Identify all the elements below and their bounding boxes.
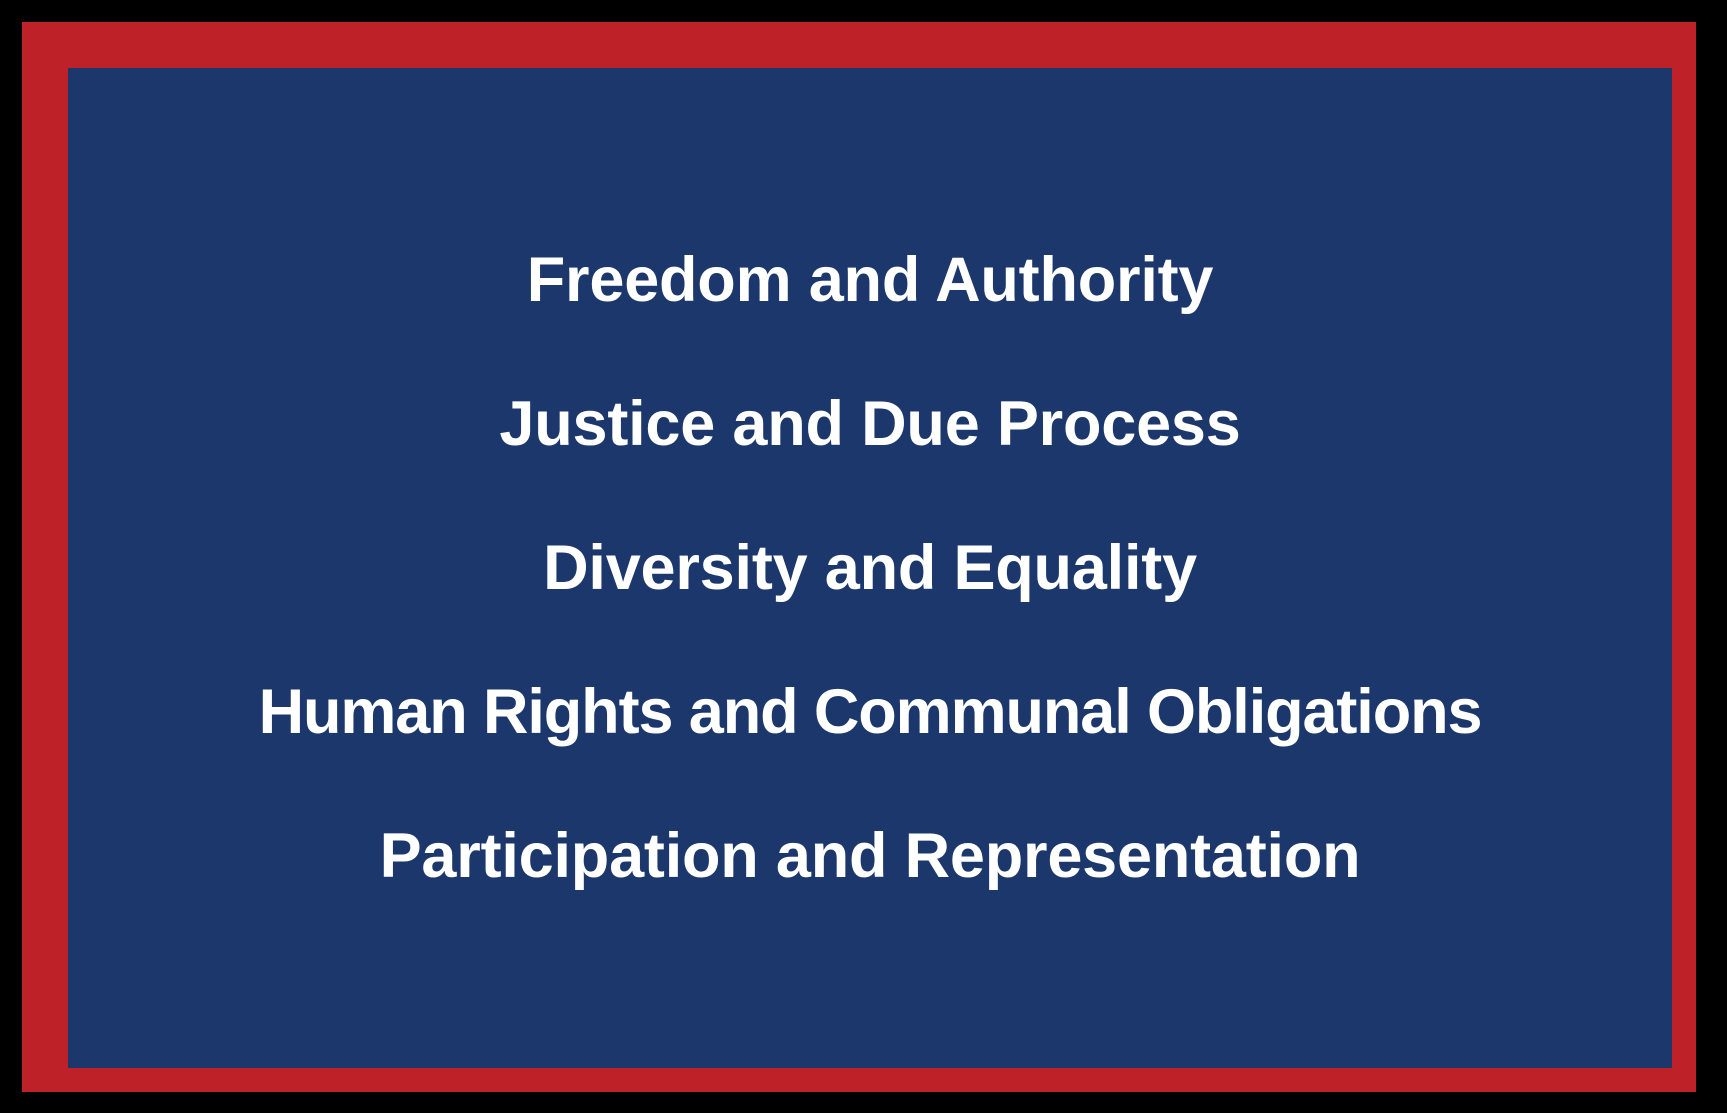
principle-list: Freedom and Authority Justice and Due Pr… [68,247,1672,890]
slide-navy-panel: Freedom and Authority Justice and Due Pr… [68,68,1672,1068]
principle-item-diversity-and-equality: Diversity and Equality [543,535,1197,601]
principle-item-participation-and-representation: Participation and Representation [380,823,1361,889]
principle-item-justice-and-due-process: Justice and Due Process [499,391,1240,457]
slide-red-frame: Freedom and Authority Justice and Due Pr… [22,22,1696,1092]
slide-stage: Freedom and Authority Justice and Due Pr… [0,0,1727,1113]
principle-item-freedom-and-authority: Freedom and Authority [527,247,1214,313]
principle-item-human-rights-and-communal-obligations: Human Rights and Communal Obligations [259,679,1482,745]
